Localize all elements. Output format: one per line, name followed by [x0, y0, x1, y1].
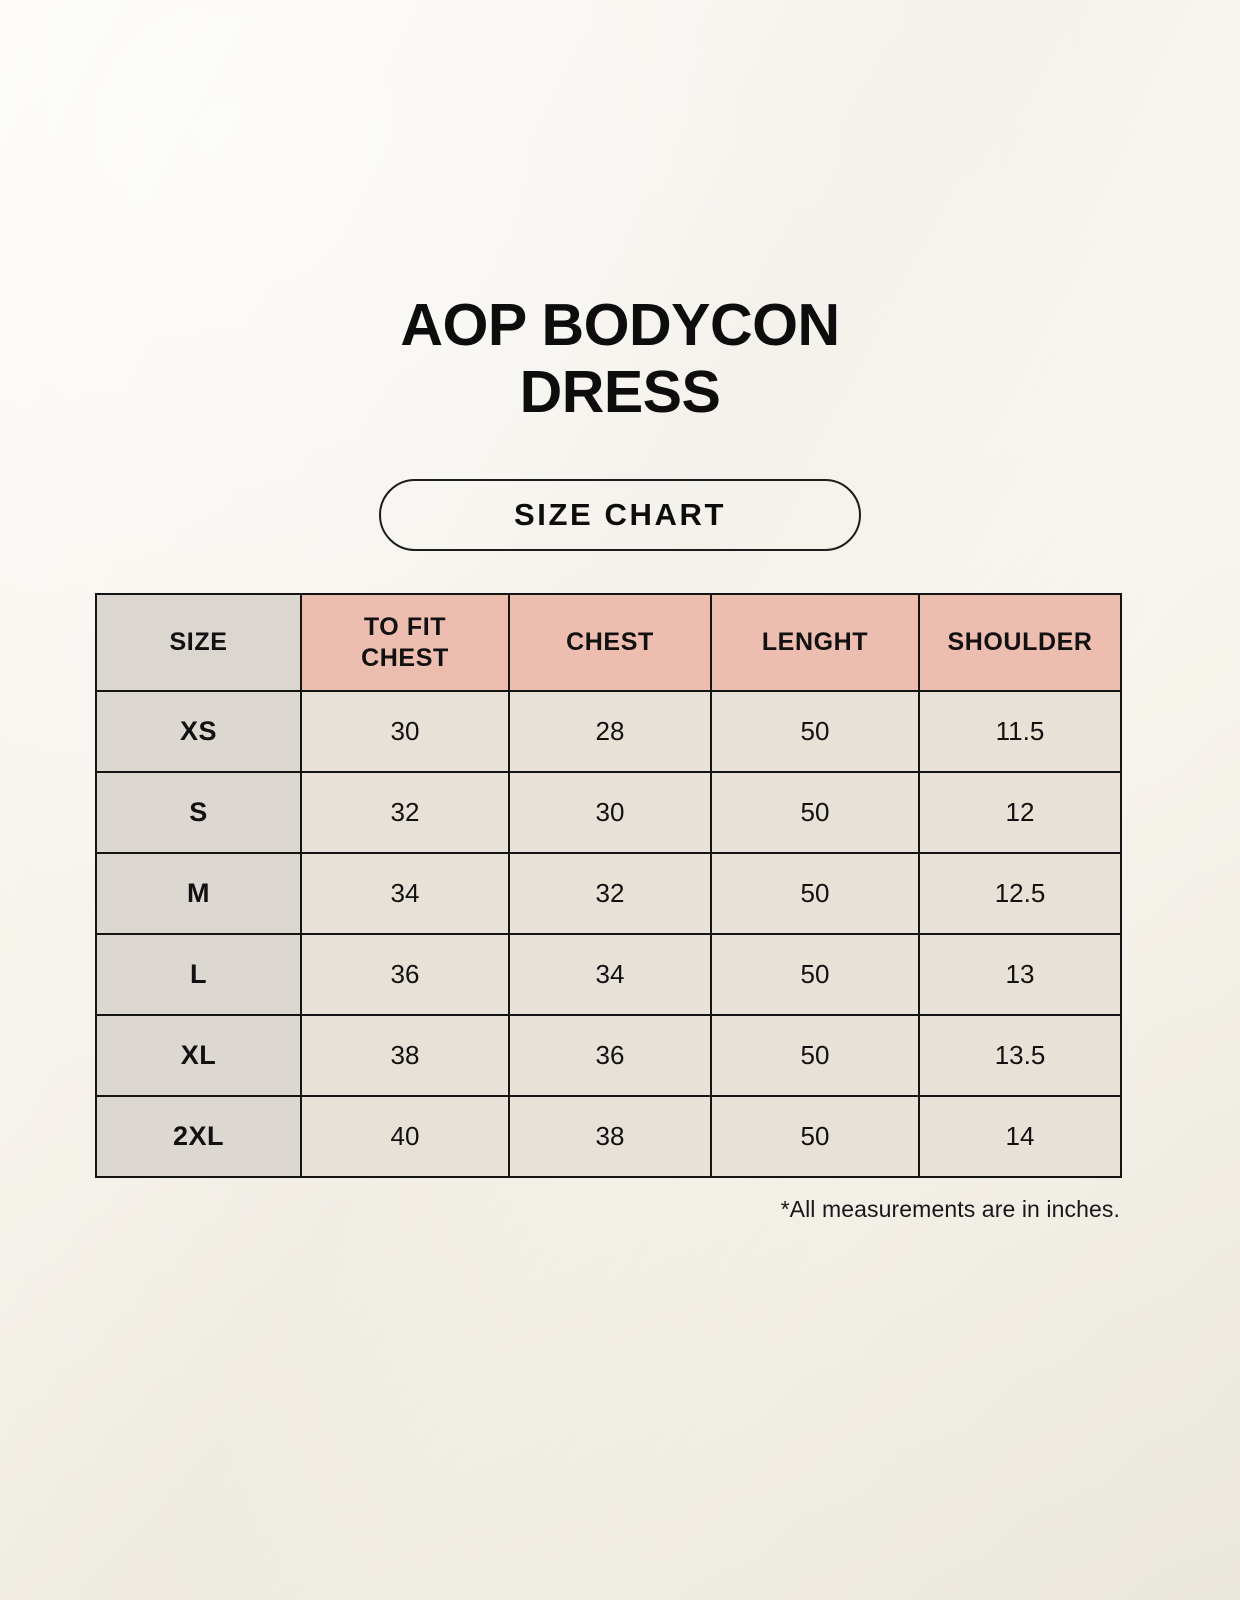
table-row: XS30285011.5	[96, 691, 1121, 772]
size-table-header: SIZE TO FIT CHEST CHEST LENGHT SHOULDER	[96, 594, 1121, 691]
page-title-line-2: DRESS	[0, 359, 1240, 426]
table-header-row: SIZE TO FIT CHEST CHEST LENGHT SHOULDER	[96, 594, 1121, 691]
size-label: S	[96, 772, 301, 853]
size-label: 2XL	[96, 1096, 301, 1177]
to-fit-chest-value: 38	[301, 1015, 509, 1096]
shoulder-value: 13.5	[919, 1015, 1121, 1096]
chest-value: 38	[509, 1096, 711, 1177]
measurements-footnote: *All measurements are in inches.	[0, 1196, 1120, 1223]
to-fit-chest-value: 34	[301, 853, 509, 934]
table-row: L36345013	[96, 934, 1121, 1015]
column-header-shoulder: SHOULDER	[919, 594, 1121, 691]
table-row: XL38365013.5	[96, 1015, 1121, 1096]
chest-value: 32	[509, 853, 711, 934]
to-fit-chest-value: 32	[301, 772, 509, 853]
lenght-value: 50	[711, 691, 919, 772]
to-fit-chest-value: 36	[301, 934, 509, 1015]
size-label: XL	[96, 1015, 301, 1096]
chest-value: 34	[509, 934, 711, 1015]
size-chart-page: AOP BODYCON DRESS SIZE CHART SIZE TO FIT…	[0, 0, 1240, 1600]
chest-value: 28	[509, 691, 711, 772]
table-row: S32305012	[96, 772, 1121, 853]
column-header-to-fit-chest: TO FIT CHEST	[301, 594, 509, 691]
lenght-value: 50	[711, 1015, 919, 1096]
shoulder-value: 13	[919, 934, 1121, 1015]
column-header-lenght: LENGHT	[711, 594, 919, 691]
page-title: AOP BODYCON DRESS	[0, 292, 1240, 426]
size-label: XS	[96, 691, 301, 772]
lenght-value: 50	[711, 772, 919, 853]
to-fit-chest-value: 30	[301, 691, 509, 772]
table-row: M34325012.5	[96, 853, 1121, 934]
lenght-value: 50	[711, 1096, 919, 1177]
page-title-line-1: AOP BODYCON	[0, 292, 1240, 359]
column-header-to-fit-chest-line-2: CHEST	[361, 644, 449, 672]
size-label: L	[96, 934, 301, 1015]
column-header-size: SIZE	[96, 594, 301, 691]
to-fit-chest-value: 40	[301, 1096, 509, 1177]
size-table-body: XS30285011.5S32305012M34325012.5L3634501…	[96, 691, 1121, 1177]
size-chart-badge: SIZE CHART	[379, 479, 861, 551]
shoulder-value: 12	[919, 772, 1121, 853]
size-table-container: SIZE TO FIT CHEST CHEST LENGHT SHOULDER …	[95, 593, 1120, 1178]
shoulder-value: 12.5	[919, 853, 1121, 934]
size-chart-badge-label: SIZE CHART	[514, 497, 726, 533]
lenght-value: 50	[711, 853, 919, 934]
lenght-value: 50	[711, 934, 919, 1015]
table-row: 2XL40385014	[96, 1096, 1121, 1177]
size-label: M	[96, 853, 301, 934]
shoulder-value: 11.5	[919, 691, 1121, 772]
size-table: SIZE TO FIT CHEST CHEST LENGHT SHOULDER …	[95, 593, 1122, 1178]
column-header-chest: CHEST	[509, 594, 711, 691]
chest-value: 30	[509, 772, 711, 853]
chest-value: 36	[509, 1015, 711, 1096]
shoulder-value: 14	[919, 1096, 1121, 1177]
column-header-to-fit-chest-line-1: TO FIT	[364, 613, 446, 641]
